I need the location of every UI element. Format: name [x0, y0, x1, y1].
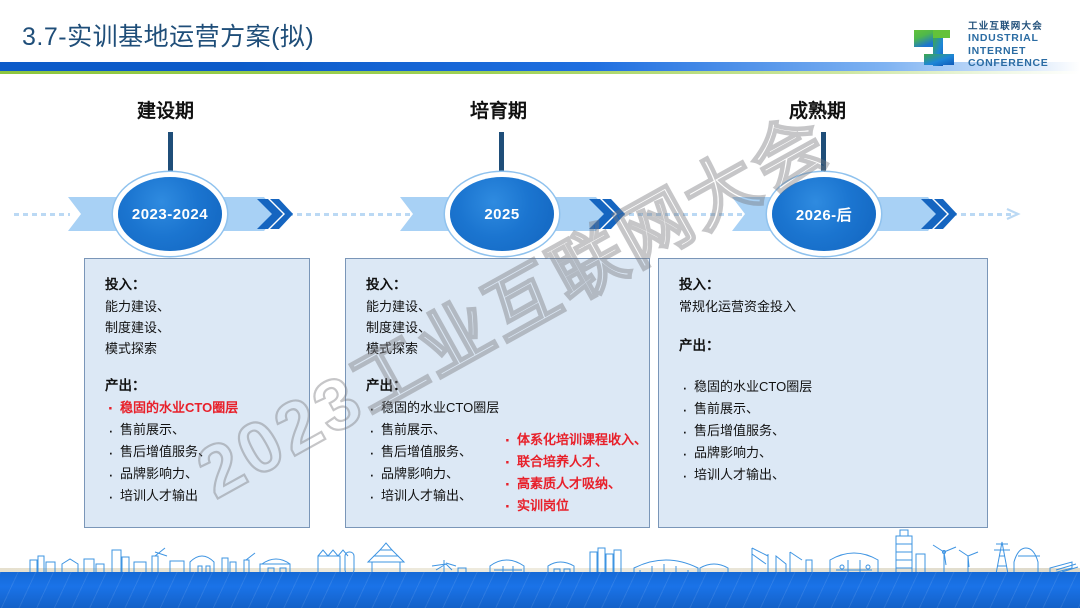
- timeline-end-arrow-icon: [1006, 205, 1028, 223]
- slide: 3.7-实训基地运营方案(拟) 工业互联网大: [0, 0, 1080, 608]
- phase-box-3[interactable]: 投入： 常规化运营资金投入 产出： 稳固的水业CTO圈层 售前展示、 售后增值服…: [658, 258, 988, 528]
- box3-left-column: 投入： 常规化运营资金投入 产出： 稳固的水业CTO圈层 售前展示、 售后增值服…: [679, 275, 812, 486]
- list-item: 联合培养人才、: [502, 451, 647, 473]
- timeline-arrow-2: [588, 196, 626, 232]
- box1-input-heading: 投入：: [105, 275, 238, 296]
- box2-input-line-3: 模式探索: [366, 338, 499, 359]
- list-item: 培训人才输出、: [679, 464, 812, 486]
- list-item: 实训岗位: [502, 495, 647, 517]
- timeline-dots-end: [952, 213, 1014, 216]
- logo-en-line3: CONFERENCE: [968, 57, 1049, 69]
- logo-mark-icon: [912, 26, 964, 70]
- box2-output-heading: 产出：: [366, 376, 499, 397]
- list-item: 培训人才输出、: [366, 485, 499, 507]
- box3-input-line-1: 常规化运营资金投入: [679, 296, 812, 317]
- timeline-node-3[interactable]: 2026-后: [772, 177, 876, 251]
- timeline-arrow-3: [920, 196, 958, 232]
- list-item: 售前展示、: [105, 419, 238, 441]
- box2-input-heading: 投入：: [366, 275, 499, 296]
- box1-output-list: 稳固的水业CTO圈层 售前展示、 售后增值服务、 品牌影响力、 培训人才输出: [105, 397, 238, 507]
- phase-label-2: 培育期: [470, 96, 527, 123]
- box2-left-column: 投入： 能力建设、 制度建设、 模式探索 产出： 稳固的水业CTO圈层 售前展示…: [366, 275, 499, 507]
- box3-output-list: 稳固的水业CTO圈层 售前展示、 售后增值服务、 品牌影响力、 培训人才输出、: [679, 376, 812, 486]
- list-item: 售前展示、: [679, 398, 812, 420]
- list-item: 售后增值服务、: [679, 420, 812, 442]
- box1-input-line-2: 制度建设、: [105, 317, 238, 338]
- box2-input-line-1: 能力建设、: [366, 296, 499, 317]
- phase-stem-3: [821, 132, 826, 172]
- box2-right-column: 体系化培训课程收入、 联合培养人才、 高素质人才吸纳、 实训岗位: [502, 429, 647, 517]
- list-item: 稳固的水业CTO圈层: [105, 397, 238, 419]
- list-item: 售前展示、: [366, 419, 499, 441]
- phase-label-3: 成熟期: [789, 96, 846, 123]
- phase-stem-2: [499, 132, 504, 172]
- list-item: 培训人才输出: [105, 485, 238, 507]
- logo-text: 工业互联网大会 INDUSTRIAL INTERNET CONFERENCE: [968, 21, 1049, 69]
- page-title: 3.7-实训基地运营方案(拟): [22, 17, 314, 53]
- box1-input-line-1: 能力建设、: [105, 296, 238, 317]
- box1-input-line-3: 模式探索: [105, 338, 238, 359]
- logo-en-line2: INTERNET: [968, 45, 1049, 57]
- list-item: 稳固的水业CTO圈层: [679, 376, 812, 398]
- box2-output-list: 稳固的水业CTO圈层 售前展示、 售后增值服务、 品牌影响力、 培训人才输出、: [366, 397, 499, 507]
- phase-label-1: 建设期: [137, 96, 194, 123]
- list-item: 品牌影响力、: [679, 442, 812, 464]
- skyline-illustration-icon: [0, 526, 1080, 574]
- timeline: 建设期 2023-2024 培育期 2025 成熟期 202: [0, 95, 1080, 245]
- logo-cn-label: 工业互联网大会: [968, 21, 1049, 32]
- box1-output-heading: 产出：: [105, 376, 238, 397]
- timeline-dots-start: [14, 213, 70, 216]
- box3-output-heading: 产出：: [679, 336, 812, 357]
- timeline-node-1[interactable]: 2023-2024: [118, 177, 222, 251]
- timeline-node-2[interactable]: 2025: [450, 177, 554, 251]
- timeline-arrow-1: [256, 196, 294, 232]
- logo-en-line1: INDUSTRIAL: [968, 32, 1049, 44]
- list-item: 品牌影响力、: [366, 463, 499, 485]
- list-item: 体系化培训课程收入、: [502, 429, 647, 451]
- footer-skyline: [0, 530, 1080, 608]
- list-item: 稳固的水业CTO圈层: [366, 397, 499, 419]
- footer-sea-band: [0, 572, 1080, 608]
- box3-input-heading: 投入：: [679, 275, 812, 296]
- box2-highlight-list: 体系化培训课程收入、 联合培养人才、 高素质人才吸纳、 实训岗位: [502, 429, 647, 517]
- phase-box-2[interactable]: 投入： 能力建设、 制度建设、 模式探索 产出： 稳固的水业CTO圈层 售前展示…: [345, 258, 650, 528]
- timeline-dots-2: [620, 213, 750, 216]
- conference-logo: 工业互联网大会 INDUSTRIAL INTERNET CONFERENCE: [912, 20, 1067, 76]
- phase-stem-1: [168, 132, 173, 172]
- list-item: 品牌影响力、: [105, 463, 238, 485]
- list-item: 高素质人才吸纳、: [502, 473, 647, 495]
- list-item: 售后增值服务、: [366, 441, 499, 463]
- list-item: 售后增值服务、: [105, 441, 238, 463]
- box2-input-line-2: 制度建设、: [366, 317, 499, 338]
- box1-left-column: 投入： 能力建设、 制度建设、 模式探索 产出： 稳固的水业CTO圈层 售前展示…: [105, 275, 238, 507]
- phase-box-1[interactable]: 投入： 能力建设、 制度建设、 模式探索 产出： 稳固的水业CTO圈层 售前展示…: [84, 258, 310, 528]
- timeline-dots-1: [288, 213, 418, 216]
